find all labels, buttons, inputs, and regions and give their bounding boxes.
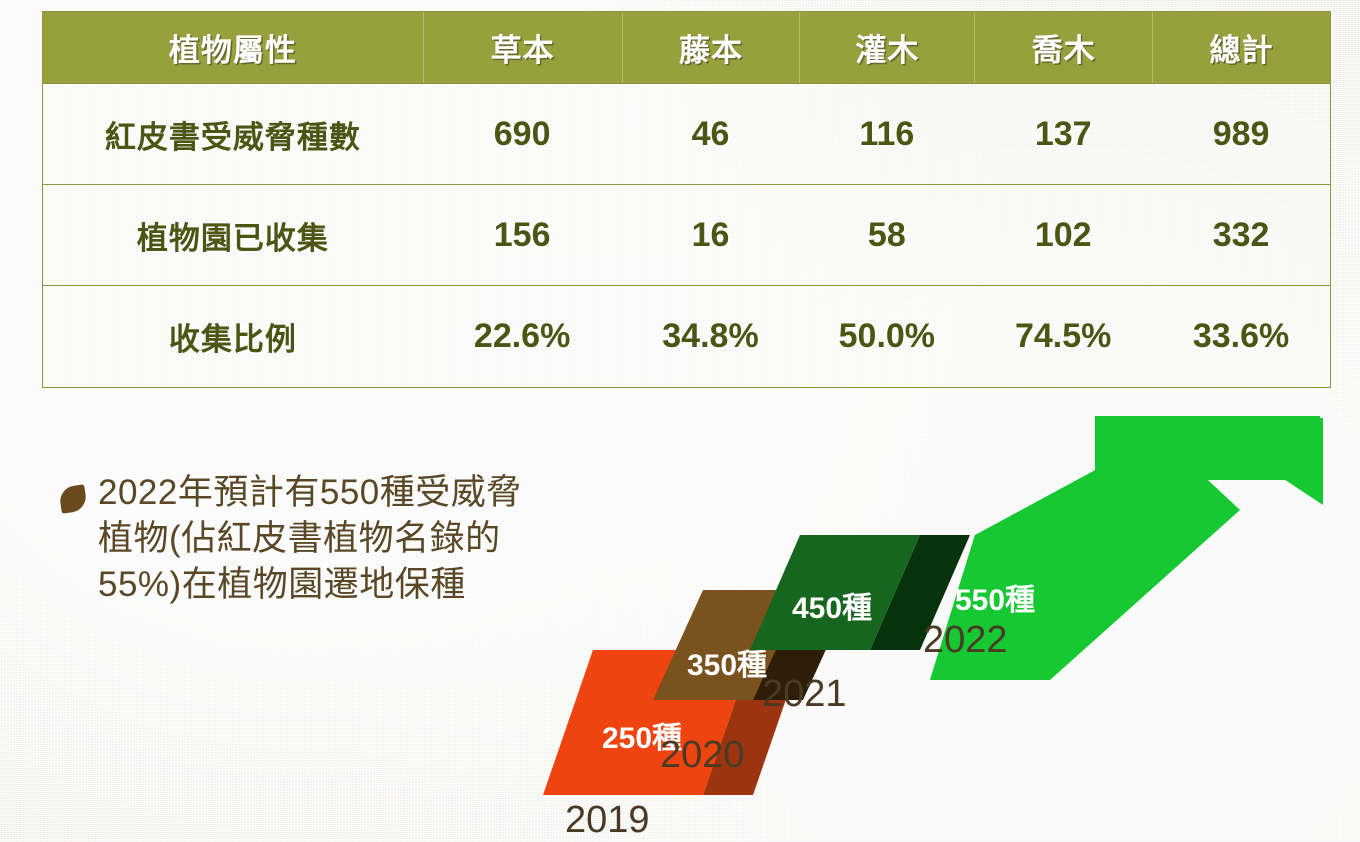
cell-collected-vine: 16 bbox=[622, 185, 800, 285]
cell-redlist-shrub: 116 bbox=[799, 84, 974, 184]
table-row: 紅皮書受威脅種數 690 46 116 137 989 bbox=[43, 83, 1330, 184]
segment-value-label-2020: 350種 bbox=[687, 649, 767, 682]
table-row: 收集比例 22.6% 34.8% 50.0% 74.5% 33.6% bbox=[43, 285, 1330, 386]
bullet-text: 2022年預計有550種受威脅植物(佔紅皮書植物名錄的55%)在植物園遷地保種 bbox=[98, 470, 550, 608]
cell-ratio-total: 33.6% bbox=[1152, 286, 1330, 386]
cell-collected-herb: 156 bbox=[423, 185, 622, 285]
segment-value-label-2021: 450種 bbox=[792, 592, 872, 625]
growth-arrow-chart: 250種 2019 350種 2020 450種 2021 550種 2022 bbox=[520, 400, 1350, 842]
cell-collected-tree: 102 bbox=[974, 185, 1152, 285]
cell-ratio-herb: 22.6% bbox=[423, 286, 622, 386]
cell-redlist-total: 989 bbox=[1152, 84, 1330, 184]
segment-year-label-2021: 2021 bbox=[762, 673, 847, 715]
row-label-redlist-threatened: 紅皮書受威脅種數 bbox=[43, 84, 423, 184]
row-label-garden-collected: 植物園已收集 bbox=[43, 185, 423, 285]
leaf-bullet-icon bbox=[58, 484, 87, 513]
segment-year-label-2020: 2020 bbox=[660, 734, 745, 776]
cell-redlist-herb: 690 bbox=[423, 84, 622, 184]
segment-year-label-2019: 2019 bbox=[565, 799, 650, 841]
cell-collected-shrub: 58 bbox=[799, 185, 974, 285]
cell-ratio-shrub: 50.0% bbox=[799, 286, 974, 386]
row-label-collection-ratio: 收集比例 bbox=[43, 286, 423, 386]
table-row: 植物園已收集 156 16 58 102 332 bbox=[43, 184, 1330, 285]
table-header-cell-vine: 藤本 bbox=[622, 12, 800, 83]
chart-segment-2022: 550種 2022 bbox=[923, 416, 1323, 680]
cell-ratio-vine: 34.8% bbox=[622, 286, 800, 386]
table-header-cell-total: 總計 bbox=[1152, 12, 1330, 83]
table-header-row: 植物屬性 草本 藤本 灌木 喬木 總計 bbox=[43, 12, 1330, 83]
segment-value-label-2022: 550種 bbox=[955, 584, 1035, 617]
table-header-cell-herb: 草本 bbox=[423, 12, 622, 83]
cell-redlist-tree: 137 bbox=[974, 84, 1152, 184]
segment-year-label-2022: 2022 bbox=[923, 619, 1008, 661]
cell-collected-total: 332 bbox=[1152, 185, 1330, 285]
table-header-cell-shrub: 灌木 bbox=[799, 12, 974, 83]
table-header-cell-attribute: 植物屬性 bbox=[43, 12, 423, 83]
cell-redlist-vine: 46 bbox=[622, 84, 800, 184]
plant-statistics-table: 植物屬性 草本 藤本 灌木 喬木 總計 紅皮書受威脅種數 690 46 116 … bbox=[42, 11, 1331, 388]
cell-ratio-tree: 74.5% bbox=[974, 286, 1152, 386]
bullet-paragraph: 2022年預計有550種受威脅植物(佔紅皮書植物名錄的55%)在植物園遷地保種 bbox=[60, 470, 550, 608]
table-header-cell-tree: 喬木 bbox=[974, 12, 1152, 83]
